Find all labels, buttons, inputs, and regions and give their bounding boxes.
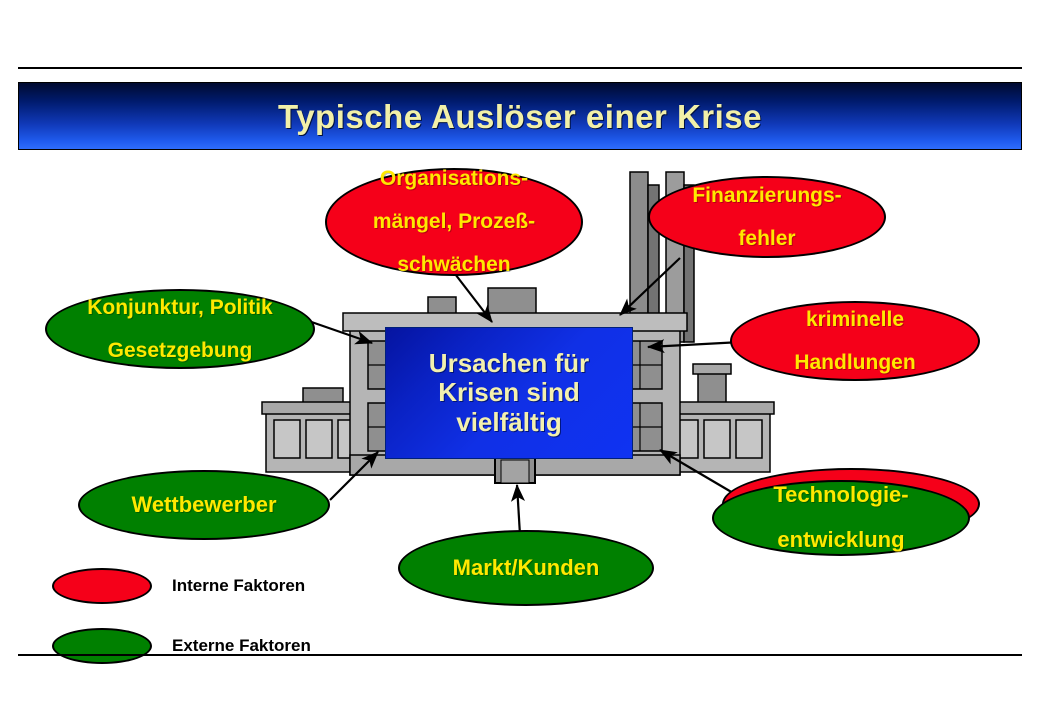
legend-label-external: Externe Faktoren — [172, 636, 311, 656]
factor-label-technologie: Technologie- entwicklung — [773, 484, 908, 551]
legend-label-internal: Interne Faktoren — [172, 576, 305, 596]
factor-ellipse-wettbewerber[interactable]: Wettbewerber — [78, 470, 330, 540]
factor-ellipse-kriminelle[interactable]: kriminelle Handlungen — [730, 301, 980, 381]
center-line-2: Krisen sind — [438, 377, 580, 407]
slide-canvas: Typische Auslöser einer Krise — [0, 0, 1040, 720]
legend-row-internal: Interne Faktoren — [52, 563, 311, 609]
factor-label-organisation: Organisations- mängel, Prozeß- schwächen — [373, 168, 535, 275]
factor-ellipse-technologie[interactable]: Technologie- entwicklung — [712, 480, 970, 556]
factor-label-wettbewerber: Wettbewerber — [131, 494, 276, 516]
legend-row-external: Externe Faktoren — [52, 623, 311, 669]
factor-label-kriminelle: kriminelle Handlungen — [794, 309, 915, 373]
center-line-1: Ursachen für — [429, 348, 589, 378]
factor-ellipse-finanzierung[interactable]: Finanzierungs- fehler — [648, 176, 886, 258]
factor-ellipse-markt[interactable]: Markt/Kunden — [398, 530, 654, 606]
factor-label-markt: Markt/Kunden — [453, 557, 600, 579]
factor-ellipse-konjunktur[interactable]: Konjunktur, Politik Gesetzgebung — [45, 289, 315, 369]
legend-swatch-green-icon — [52, 628, 152, 664]
factor-label-konjunktur: Konjunktur, Politik Gesetzgebung — [87, 297, 273, 361]
factor-ellipse-organisation[interactable]: Organisations- mängel, Prozeß- schwächen — [325, 168, 583, 276]
center-statement-box: Ursachen für Krisen sind vielfältig — [385, 327, 633, 459]
center-line-3: vielfältig — [456, 407, 561, 437]
legend-swatch-red-icon — [52, 568, 152, 604]
center-statement-text: Ursachen für Krisen sind vielfältig — [429, 349, 589, 436]
bottom-divider-rule — [18, 654, 1022, 656]
factor-label-finanzierung: Finanzierungs- fehler — [692, 185, 841, 249]
